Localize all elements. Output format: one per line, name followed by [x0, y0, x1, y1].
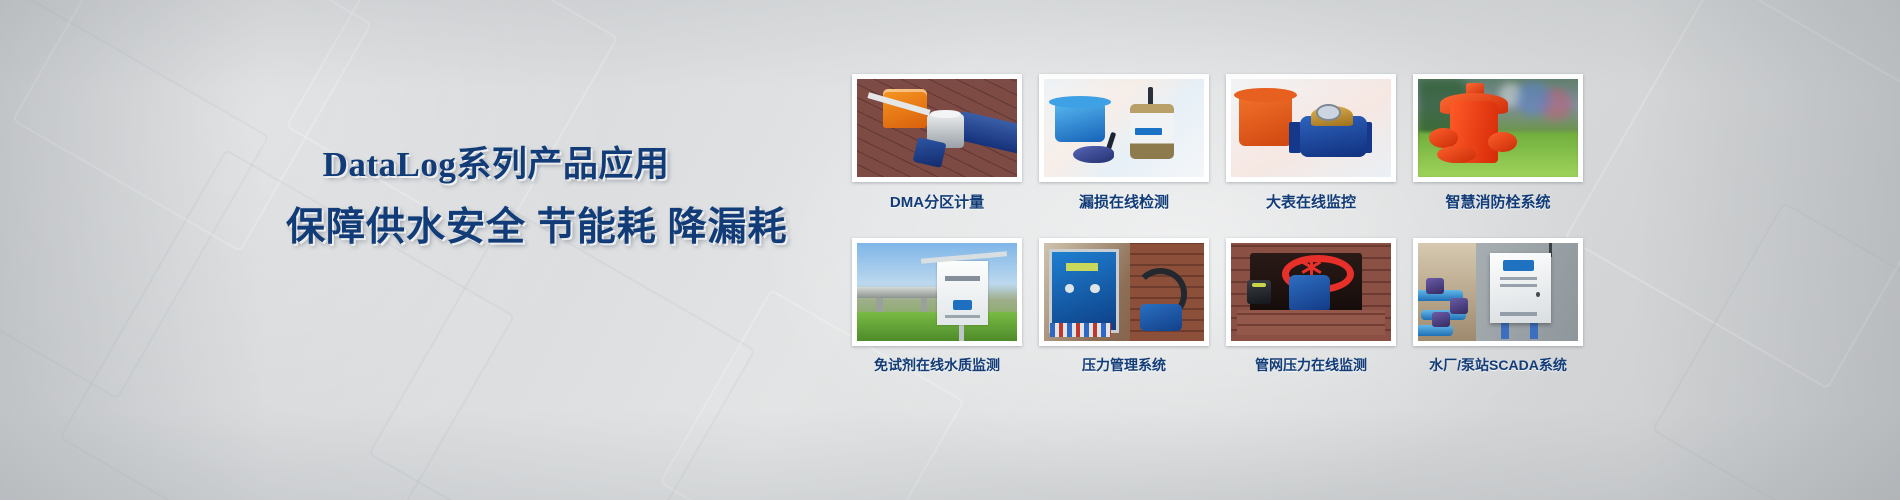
product-card-grid: DMA分区计量 漏损在线检测 — [852, 74, 1592, 375]
fire-hydrant-photo — [1418, 79, 1578, 177]
product-card-scada-system[interactable]: 水厂/泵站SCADA系统 — [1413, 238, 1583, 375]
product-caption: 免试剂在线水质监测 — [852, 355, 1022, 375]
product-thumbnail[interactable] — [1226, 74, 1396, 182]
product-card-reagent-free-water-quality[interactable]: 免试剂在线水质监测 — [852, 238, 1022, 375]
headline-block: DataLog系列产品应用 保障供水安全 节能耗 降漏耗 — [286, 146, 706, 249]
leak-logger-devices-photo — [1044, 79, 1204, 177]
product-thumbnail[interactable] — [1413, 238, 1583, 346]
pressure-control-panel-photo — [1044, 243, 1204, 341]
pump-station-scada-cabinet-photo — [1418, 243, 1578, 341]
product-thumbnail[interactable] — [852, 238, 1022, 346]
valve-chamber-pressure-photo — [1231, 243, 1391, 341]
product-row-top: DMA分区计量 漏损在线检测 — [852, 74, 1592, 212]
product-thumbnail[interactable] — [1226, 238, 1396, 346]
product-caption: 大表在线监控 — [1226, 191, 1396, 212]
headline-secondary: 保障供水安全 节能耗 降漏耗 — [286, 207, 706, 250]
product-caption: 管网压力在线监测 — [1226, 355, 1396, 375]
product-caption: DMA分区计量 — [852, 191, 1022, 212]
product-row-bottom: 免试剂在线水质监测 压力管理系统 — [852, 238, 1592, 375]
product-thumbnail[interactable] — [1039, 74, 1209, 182]
headline-primary: DataLog系列产品应用 — [286, 146, 706, 185]
product-card-network-pressure-monitoring[interactable]: 管网压力在线监测 — [1226, 238, 1396, 375]
product-card-smart-hydrant[interactable]: 智慧消防栓系统 — [1413, 74, 1583, 212]
product-thumbnail[interactable] — [852, 74, 1022, 182]
product-application-banner: DataLog系列产品应用 保障供水安全 节能耗 降漏耗 DMA分区计量 — [0, 0, 1900, 500]
large-water-meter-photo — [1231, 79, 1391, 177]
product-card-large-meter-monitoring[interactable]: 大表在线监控 — [1226, 74, 1396, 212]
product-card-dma-metering[interactable]: DMA分区计量 — [852, 74, 1022, 212]
product-caption: 漏损在线检测 — [1039, 191, 1209, 212]
product-thumbnail[interactable] — [1413, 74, 1583, 182]
product-caption: 压力管理系统 — [1039, 355, 1209, 375]
product-card-pressure-management[interactable]: 压力管理系统 — [1039, 238, 1209, 375]
product-caption: 智慧消防栓系统 — [1413, 191, 1583, 212]
dma-flow-meter-photo — [857, 79, 1017, 177]
product-card-leak-detection[interactable]: 漏损在线检测 — [1039, 74, 1209, 212]
water-quality-station-sign-photo — [857, 243, 1017, 341]
product-caption: 水厂/泵站SCADA系统 — [1413, 355, 1583, 375]
product-thumbnail[interactable] — [1039, 238, 1209, 346]
